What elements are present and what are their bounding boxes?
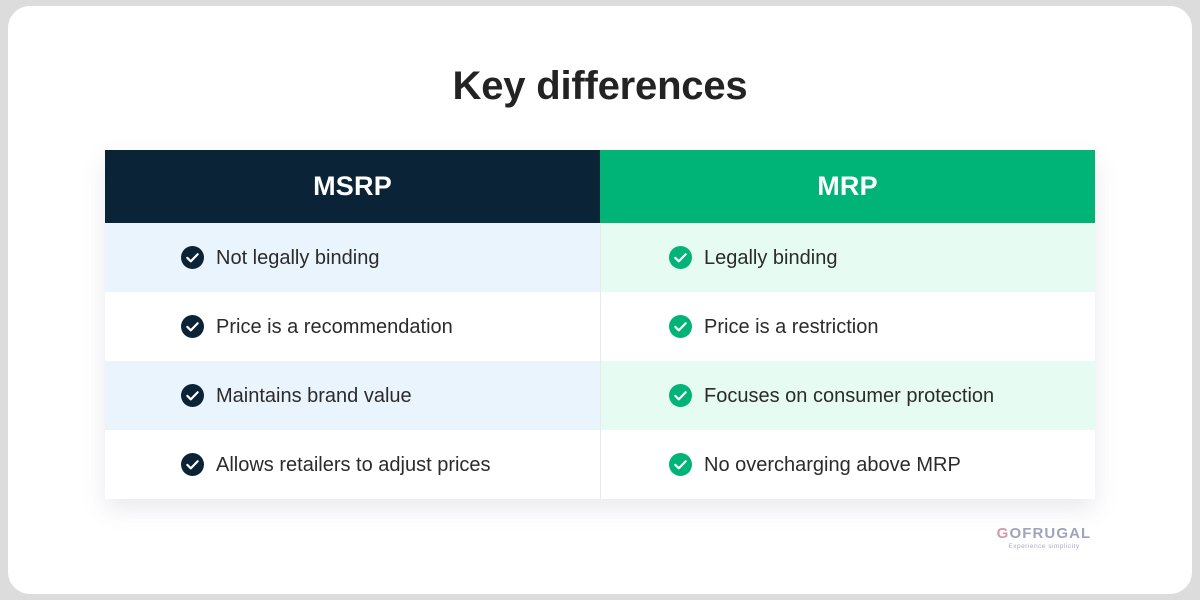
table-cell-mrp: Legally binding — [600, 223, 1095, 292]
table-cell-label: Maintains brand value — [216, 384, 412, 408]
brand-logo: GOFRUGAL Experience simplicity — [984, 526, 1104, 551]
check-circle-icon — [181, 384, 204, 407]
page-card: Key differences MSRP MRP Not legally bin… — [8, 6, 1192, 594]
table-row: Not legally binding Legally binding — [105, 223, 1095, 292]
check-circle-icon — [669, 246, 692, 269]
table-cell-msrp: Allows retailers to adjust prices — [105, 430, 600, 499]
table-row: Price is a recommendation Price is a res… — [105, 292, 1095, 361]
table-body: Not legally binding Legally binding — [105, 223, 1095, 499]
brand-name-rest: OFRUGAL — [1009, 525, 1091, 542]
table-cell-mrp: Price is a restriction — [600, 292, 1095, 361]
check-circle-icon — [181, 315, 204, 338]
table-cell-label: Legally binding — [704, 246, 837, 270]
column-header-msrp: MSRP — [105, 150, 600, 223]
table-cell-msrp: Not legally binding — [105, 223, 600, 292]
comparison-table: MSRP MRP Not legally binding — [105, 150, 1095, 499]
check-circle-icon — [669, 453, 692, 476]
table-row: Allows retailers to adjust prices No ove… — [105, 430, 1095, 499]
brand-tagline: Experience simplicity — [984, 544, 1104, 551]
table-cell-mrp: Focuses on consumer protection — [600, 361, 1095, 430]
check-circle-icon — [181, 246, 204, 269]
table-row: Maintains brand value Focuses on consume… — [105, 361, 1095, 430]
column-header-mrp-label: MRP — [817, 171, 878, 202]
table-cell-label: No overcharging above MRP — [704, 453, 961, 477]
brand-name-accent: G — [997, 525, 1010, 542]
table-cell-msrp: Maintains brand value — [105, 361, 600, 430]
table-cell-label: Allows retailers to adjust prices — [216, 453, 491, 477]
table-cell-label: Price is a recommendation — [216, 315, 453, 339]
table-cell-msrp: Price is a recommendation — [105, 292, 600, 361]
check-circle-icon — [181, 453, 204, 476]
table-cell-label: Focuses on consumer protection — [704, 384, 994, 408]
table-cell-label: Not legally binding — [216, 246, 379, 270]
table-cell-mrp: No overcharging above MRP — [600, 430, 1095, 499]
page-title: Key differences — [8, 64, 1192, 108]
table-cell-label: Price is a restriction — [704, 315, 879, 339]
column-header-msrp-label: MSRP — [313, 171, 392, 202]
check-circle-icon — [669, 315, 692, 338]
check-circle-icon — [669, 384, 692, 407]
column-header-mrp: MRP — [600, 150, 1095, 223]
table-header-row: MSRP MRP — [105, 150, 1095, 223]
brand-name: GOFRUGAL — [984, 526, 1104, 541]
